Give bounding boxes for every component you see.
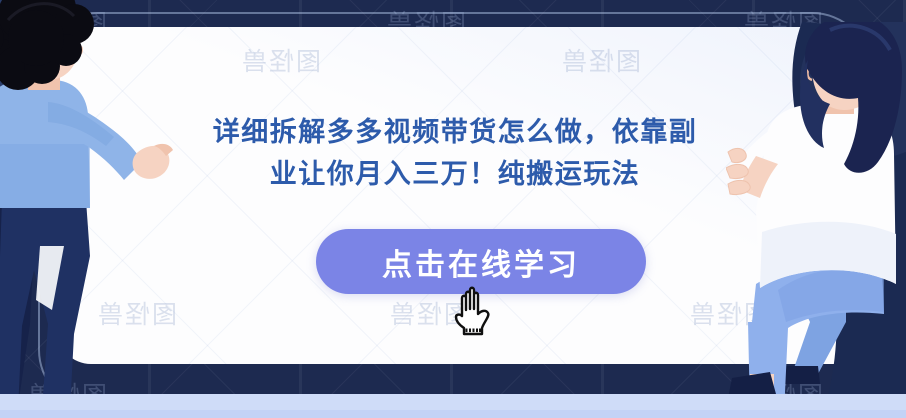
banner-canvas: 图怪兽 图怪兽 图怪兽 图怪兽 图怪兽 图怪兽 图怪兽 图怪兽 图怪兽 图怪兽 … bbox=[0, 0, 906, 418]
floor-strip-shadow bbox=[0, 410, 906, 418]
title-line-1: 详细拆解多多视频带货怎么做，依靠副 bbox=[150, 112, 760, 154]
cta-button-label: 点击在线学习 bbox=[382, 240, 580, 284]
standing-presenter-figure bbox=[0, 0, 178, 418]
title-line-2: 业让你月入三万！纯搬运玩法 bbox=[150, 154, 760, 196]
watermark-glyph: 图怪兽 bbox=[240, 42, 321, 78]
pointing-hand-cursor-icon bbox=[450, 285, 496, 337]
seated-viewer-figure bbox=[726, 22, 906, 418]
banner-title: 详细拆解多多视频带货怎么做，依靠副 业让你月入三万！纯搬运玩法 bbox=[150, 112, 760, 196]
watermark-glyph: 图怪兽 bbox=[560, 42, 641, 78]
